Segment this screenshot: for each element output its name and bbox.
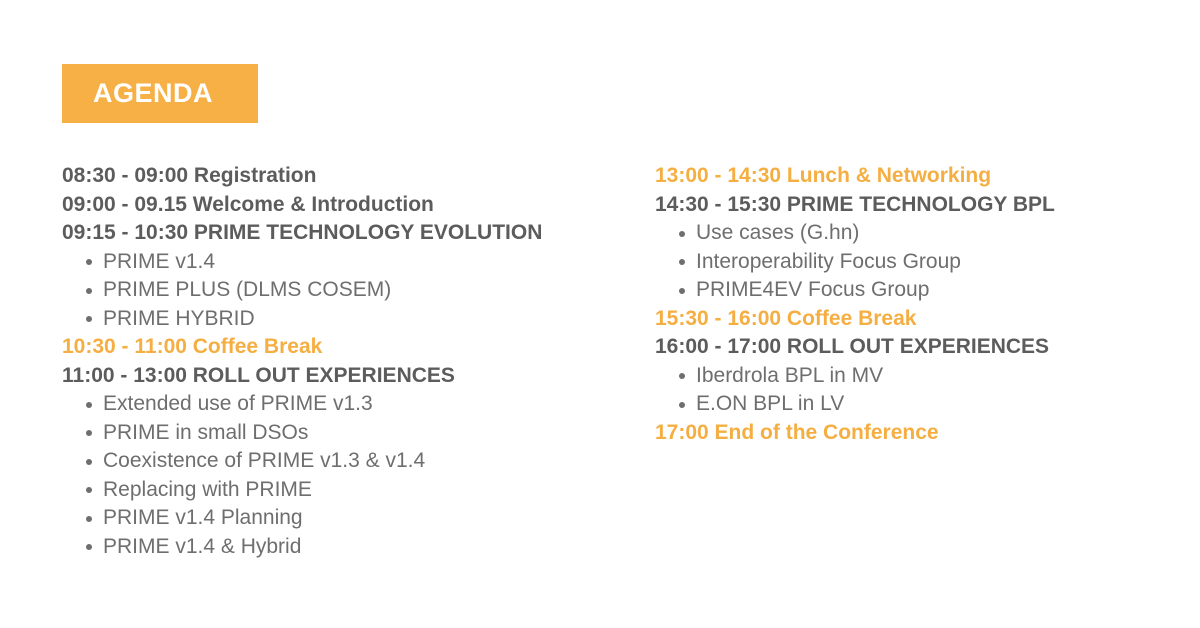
agenda-subitem: PRIME PLUS (DLMS COSEM) <box>62 276 642 305</box>
agenda-subitem: PRIME v1.4 & Hybrid <box>62 533 642 562</box>
agenda-entry: 09:15 - 10:30 PRIME TECHNOLOGY EVOLUTION… <box>62 219 642 333</box>
agenda-subitem: Coexistence of PRIME v1.3 & v1.4 <box>62 447 642 476</box>
agenda-subitem-list: Use cases (G.hn)Interoperability Focus G… <box>655 219 1175 305</box>
agenda-banner-label: AGENDA <box>62 80 213 107</box>
bullet-icon <box>86 288 92 294</box>
bullet-icon <box>86 516 92 522</box>
agenda-subitem-label: PRIME HYBRID <box>103 307 255 330</box>
agenda-entry: 17:00 End of the Conference <box>655 419 1175 448</box>
agenda-subitem-label: Interoperability Focus Group <box>696 250 961 273</box>
agenda-slide: AGENDA 08:30 - 09:00 Registration09:00 -… <box>0 0 1200 628</box>
bullet-icon <box>679 231 685 237</box>
agenda-subitem-label: PRIME v1.4 & Hybrid <box>103 535 301 558</box>
agenda-entry: 09:00 - 09.15 Welcome & Introduction <box>62 191 642 220</box>
agenda-entry-headline: 13:00 - 14:30 Lunch & Networking <box>655 162 1175 191</box>
agenda-subitem-list: Extended use of PRIME v1.3PRIME in small… <box>62 390 642 561</box>
bullet-icon <box>679 288 685 294</box>
agenda-entry-headline: 17:00 End of the Conference <box>655 419 1175 448</box>
agenda-subitem: PRIME HYBRID <box>62 305 642 334</box>
agenda-entry-headline: 09:00 - 09.15 Welcome & Introduction <box>62 191 642 220</box>
agenda-subitem-label: Iberdrola BPL in MV <box>696 364 883 387</box>
agenda-entry-list-right: 13:00 - 14:30 Lunch & Networking14:30 - … <box>655 162 1175 447</box>
agenda-entry: 14:30 - 15:30 PRIME TECHNOLOGY BPLUse ca… <box>655 191 1175 305</box>
agenda-subitem: Iberdrola BPL in MV <box>655 362 1175 391</box>
agenda-column-left: 08:30 - 09:00 Registration09:00 - 09.15 … <box>62 162 642 561</box>
agenda-entry: 08:30 - 09:00 Registration <box>62 162 642 191</box>
bullet-icon <box>86 459 92 465</box>
agenda-entry-headline: 15:30 - 16:00 Coffee Break <box>655 305 1175 334</box>
agenda-subitem-label: E.ON BPL in LV <box>696 392 844 415</box>
agenda-entry-headline: 14:30 - 15:30 PRIME TECHNOLOGY BPL <box>655 191 1175 220</box>
bullet-icon <box>86 430 92 436</box>
agenda-entry-headline: 16:00 - 17:00 ROLL OUT EXPERIENCES <box>655 333 1175 362</box>
agenda-subitem-label: Coexistence of PRIME v1.3 & v1.4 <box>103 449 425 472</box>
agenda-subitem: PRIME v1.4 <box>62 248 642 277</box>
agenda-subitem-label: PRIME v1.4 <box>103 250 215 273</box>
agenda-subitem-list: Iberdrola BPL in MVE.ON BPL in LV <box>655 362 1175 419</box>
bullet-icon <box>679 259 685 265</box>
agenda-entry-headline: 11:00 - 13:00 ROLL OUT EXPERIENCES <box>62 362 642 391</box>
agenda-entry: 16:00 - 17:00 ROLL OUT EXPERIENCESIberdr… <box>655 333 1175 419</box>
agenda-subitem: Extended use of PRIME v1.3 <box>62 390 642 419</box>
agenda-subitem: E.ON BPL in LV <box>655 390 1175 419</box>
agenda-subitem-label: Replacing with PRIME <box>103 478 312 501</box>
agenda-subitem: Interoperability Focus Group <box>655 248 1175 277</box>
agenda-entry-headline: 09:15 - 10:30 PRIME TECHNOLOGY EVOLUTION <box>62 219 642 248</box>
agenda-entry-headline: 08:30 - 09:00 Registration <box>62 162 642 191</box>
agenda-entry: 11:00 - 13:00 ROLL OUT EXPERIENCESExtend… <box>62 362 642 562</box>
agenda-entry: 13:00 - 14:30 Lunch & Networking <box>655 162 1175 191</box>
agenda-column-right: 13:00 - 14:30 Lunch & Networking14:30 - … <box>655 162 1175 447</box>
agenda-entry: 10:30 - 11:00 Coffee Break <box>62 333 642 362</box>
bullet-icon <box>679 373 685 379</box>
agenda-subitem: Use cases (G.hn) <box>655 219 1175 248</box>
agenda-subitem-label: PRIME in small DSOs <box>103 421 308 444</box>
bullet-icon <box>86 316 92 322</box>
agenda-subitem: Replacing with PRIME <box>62 476 642 505</box>
agenda-subitem-label: PRIME PLUS (DLMS COSEM) <box>103 278 391 301</box>
bullet-icon <box>679 402 685 408</box>
bullet-icon <box>86 402 92 408</box>
bullet-icon <box>86 487 92 493</box>
agenda-subitem-label: PRIME v1.4 Planning <box>103 506 303 529</box>
bullet-icon <box>86 259 92 265</box>
agenda-subitem-label: Extended use of PRIME v1.3 <box>103 392 373 415</box>
agenda-banner: AGENDA <box>62 64 258 123</box>
agenda-entry-list-left: 08:30 - 09:00 Registration09:00 - 09.15 … <box>62 162 642 561</box>
agenda-subitem: PRIME4EV Focus Group <box>655 276 1175 305</box>
agenda-subitem-label: Use cases (G.hn) <box>696 221 859 244</box>
agenda-entry-headline: 10:30 - 11:00 Coffee Break <box>62 333 642 362</box>
agenda-subitem: PRIME in small DSOs <box>62 419 642 448</box>
bullet-icon <box>86 544 92 550</box>
agenda-subitem-list: PRIME v1.4PRIME PLUS (DLMS COSEM)PRIME H… <box>62 248 642 334</box>
agenda-subitem-label: PRIME4EV Focus Group <box>696 278 929 301</box>
agenda-subitem: PRIME v1.4 Planning <box>62 504 642 533</box>
agenda-entry: 15:30 - 16:00 Coffee Break <box>655 305 1175 334</box>
